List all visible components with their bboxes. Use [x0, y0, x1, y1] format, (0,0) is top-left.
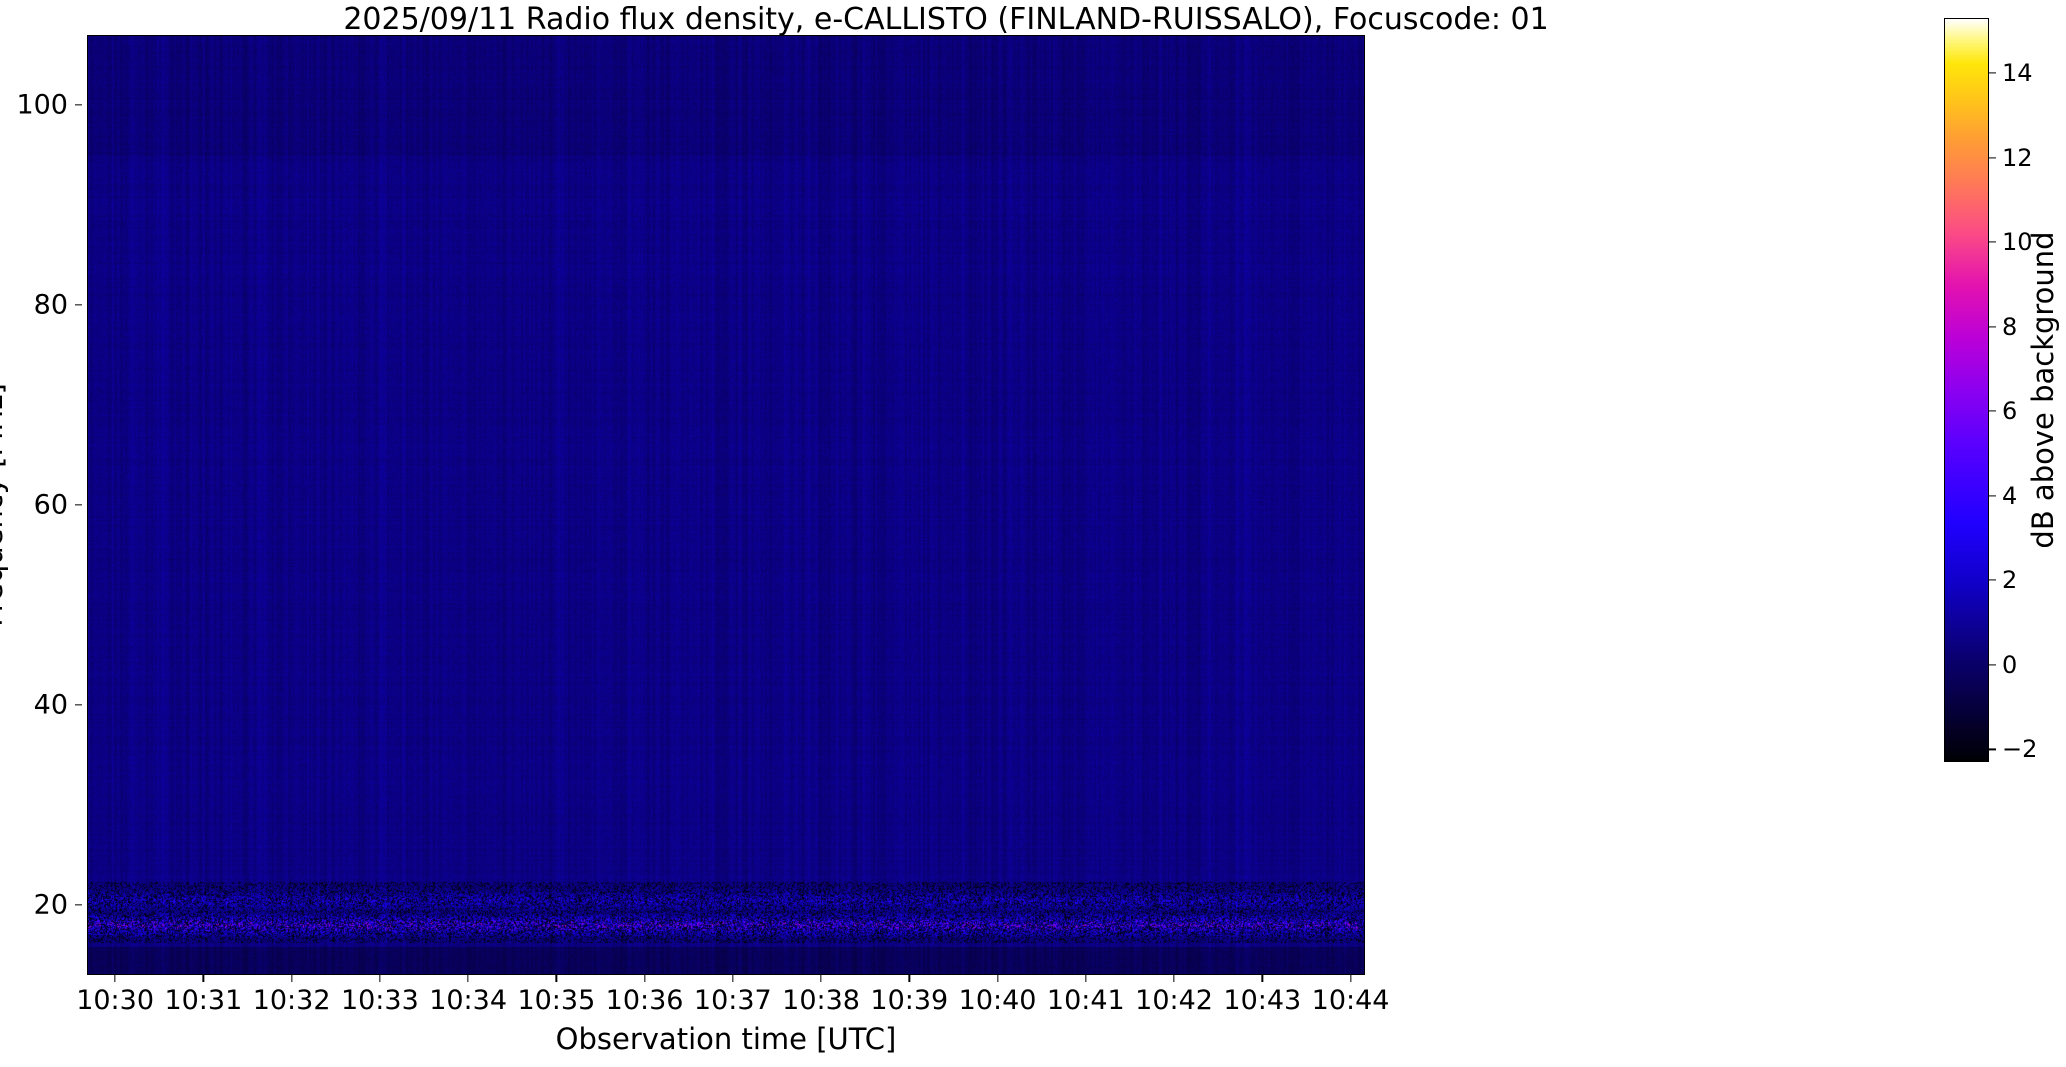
x-tick-label: 10:32: [253, 985, 331, 1016]
y-tick-label: 80: [34, 290, 68, 321]
x-tick-mark: [997, 975, 998, 982]
colorbar: [1944, 18, 1989, 762]
x-tick-label: 10:40: [959, 985, 1037, 1016]
x-tick-label: 10:41: [1047, 985, 1125, 1016]
x-tick-label: 10:44: [1312, 985, 1390, 1016]
x-tick-label: 10:31: [164, 985, 242, 1016]
x-tick-label: 10:37: [694, 985, 772, 1016]
colorbar-tick-label: 14: [2002, 59, 2033, 87]
x-tick-mark: [114, 975, 115, 982]
colorbar-tick-label: 8: [2002, 313, 2017, 341]
colorbar-tick-mark: [1989, 326, 1996, 327]
colorbar-tick-mark: [1989, 580, 1996, 581]
colorbar-tick-label: 2: [2002, 566, 2017, 594]
colorbar-tick-label: 6: [2002, 397, 2017, 425]
x-tick-mark: [203, 975, 204, 982]
x-tick-label: 10:34: [429, 985, 507, 1016]
x-tick-mark: [467, 975, 468, 982]
colorbar-tick-mark: [1989, 241, 1996, 242]
y-tick-label: 20: [34, 890, 68, 921]
colorbar-tick-label: 4: [2002, 482, 2017, 510]
colorbar-tick-mark: [1989, 495, 1996, 496]
x-tick-label: 10:30: [76, 985, 154, 1016]
x-tick-label: 10:42: [1135, 985, 1213, 1016]
x-tick-mark: [1085, 975, 1086, 982]
y-tick-mark: [75, 904, 82, 905]
colorbar-tick-mark: [1989, 749, 1996, 750]
x-tick-label: 10:43: [1223, 985, 1301, 1016]
x-tick-label: 10:36: [606, 985, 684, 1016]
colorbar-tick-label: 12: [2002, 144, 2033, 172]
y-tick-label: 100: [16, 90, 68, 121]
colorbar-tick-mark: [1989, 664, 1996, 665]
colorbar-tick-label: −2: [2002, 735, 2037, 763]
x-tick-label: 10:38: [782, 985, 860, 1016]
x-tick-mark: [820, 975, 821, 982]
x-tick-mark: [732, 975, 733, 982]
y-tick-mark: [75, 504, 82, 505]
page-title: 2025/09/11 Radio flux density, e-CALLIST…: [87, 2, 1805, 37]
x-tick-mark: [1262, 975, 1263, 982]
y-axis-label: Frequency [MHz]: [0, 383, 9, 627]
colorbar-gradient: [1944, 18, 1989, 762]
x-tick-label: 10:33: [341, 985, 419, 1016]
y-tick-mark: [75, 104, 82, 105]
x-tick-mark: [1173, 975, 1174, 982]
y-tick-label: 60: [34, 490, 68, 521]
spectrogram-speckle-layer: [88, 36, 1365, 975]
x-tick-mark: [379, 975, 380, 982]
x-tick-mark: [556, 975, 557, 982]
colorbar-tick-mark: [1989, 157, 1996, 158]
colorbar-tick-mark: [1989, 72, 1996, 73]
x-axis: 10:3010:3110:3210:3310:3410:3510:3610:37…: [87, 975, 1365, 1025]
x-tick-mark: [644, 975, 645, 982]
colorbar-tick-label: 0: [2002, 651, 2017, 679]
y-tick-mark: [75, 704, 82, 705]
y-tick-label: 40: [34, 690, 68, 721]
y-tick-mark: [75, 304, 82, 305]
x-tick-label: 10:35: [517, 985, 595, 1016]
y-axis: Frequency [MHz] 10080604020: [0, 35, 82, 975]
spectrogram-figure: 2025/09/11 Radio flux density, e-CALLIST…: [0, 0, 2066, 1067]
x-axis-label: Observation time [UTC]: [87, 1022, 1365, 1056]
colorbar-tick-mark: [1989, 411, 1996, 412]
x-tick-label: 10:39: [870, 985, 948, 1016]
heatmap-plot-area: [87, 35, 1365, 975]
colorbar-label: dB above background: [2026, 231, 2060, 548]
x-tick-mark: [1350, 975, 1351, 982]
x-tick-mark: [909, 975, 910, 982]
x-tick-mark: [291, 975, 292, 982]
